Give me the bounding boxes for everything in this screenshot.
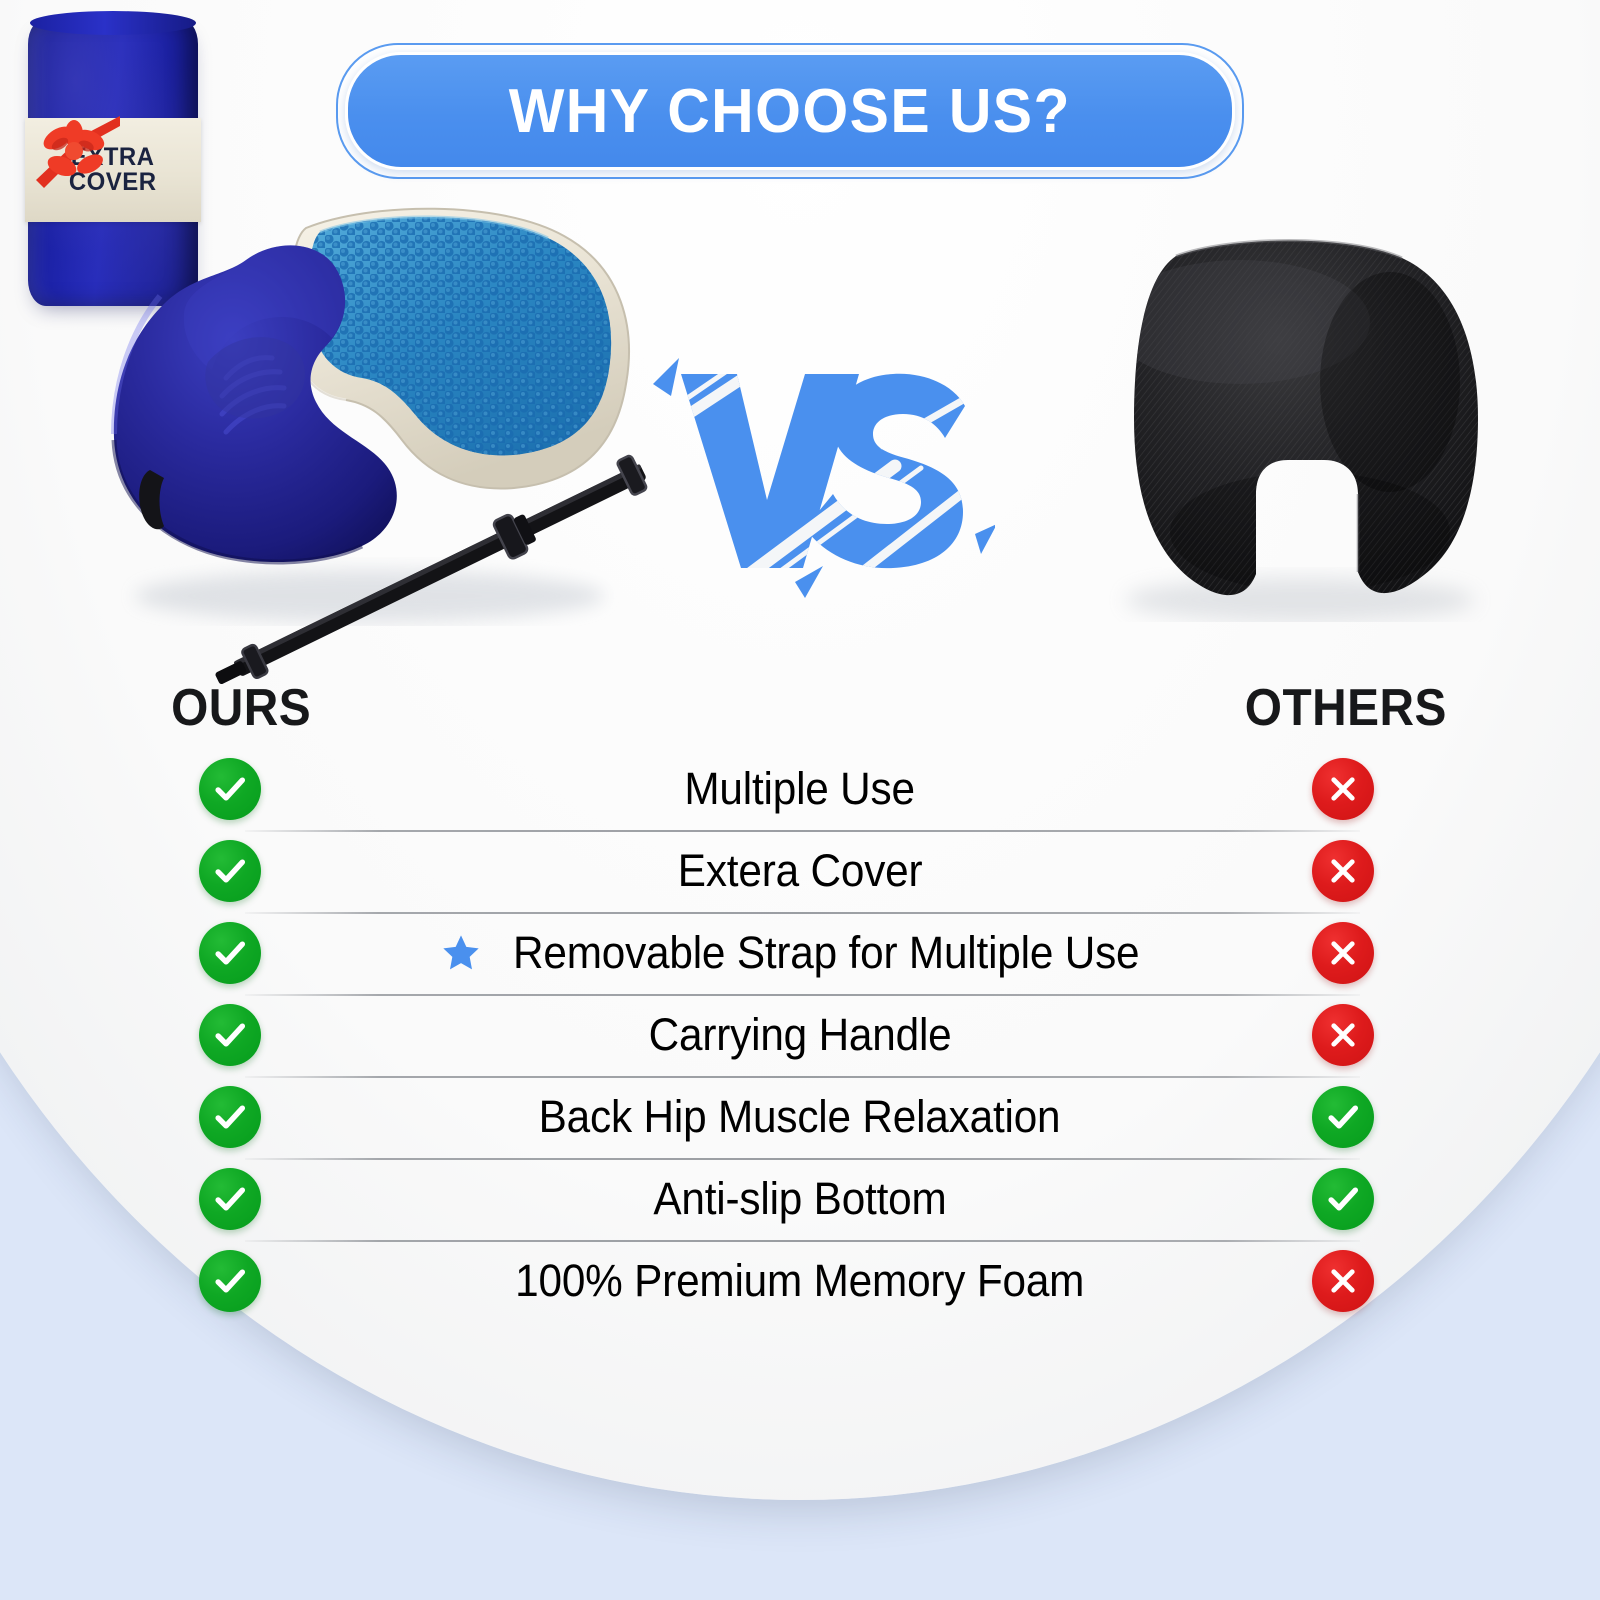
- check-icon-left: [199, 1250, 261, 1312]
- check-icon-left: [199, 1086, 261, 1148]
- comparison-table: Multiple UseExtera CoverRemovable Strap …: [0, 748, 1600, 1322]
- feature-label-wrap: Removable Strap for Multiple Use: [300, 927, 1300, 979]
- check-icon-right: [1312, 1168, 1374, 1230]
- feature-label-wrap: Multiple Use: [300, 763, 1300, 815]
- strap-image: [190, 450, 690, 690]
- feature-row: Removable Strap for Multiple Use: [0, 912, 1600, 994]
- feature-row: Carrying Handle: [0, 994, 1600, 1076]
- column-header-others: OTHERS: [1245, 678, 1447, 738]
- title-banner: WHY CHOOSE US?: [345, 52, 1235, 170]
- feature-row: 100% Premium Memory Foam: [0, 1240, 1600, 1322]
- check-icon-left: [199, 758, 261, 820]
- feature-row: Extera Cover: [0, 830, 1600, 912]
- cross-icon-right: [1312, 840, 1374, 902]
- feature-label-wrap: Back Hip Muscle Relaxation: [300, 1091, 1300, 1143]
- infographic-canvas: WHY CHOOSE US? EXTRA COVER: [0, 0, 1600, 1600]
- page-title: WHY CHOOSE US?: [509, 76, 1071, 147]
- feature-label-wrap: 100% Premium Memory Foam: [300, 1255, 1300, 1307]
- package-roll-top: [30, 11, 196, 35]
- check-icon-left: [199, 1004, 261, 1066]
- check-icon-left: [199, 922, 261, 984]
- feature-row: Anti-slip Bottom: [0, 1158, 1600, 1240]
- cross-icon-right: [1312, 1250, 1374, 1312]
- feature-row: Multiple Use: [0, 748, 1600, 830]
- feature-label: 100% Premium Memory Foam: [515, 1255, 1084, 1307]
- feature-label: Removable Strap for Multiple Use: [513, 927, 1139, 979]
- column-header-ours: OURS: [171, 678, 311, 738]
- others-product-image: [1080, 232, 1500, 622]
- feature-label-wrap: Extera Cover: [300, 845, 1300, 897]
- feature-label-wrap: Carrying Handle: [300, 1009, 1300, 1061]
- cross-icon-right: [1312, 922, 1374, 984]
- feature-label: Multiple Use: [685, 763, 915, 815]
- cross-icon-right: [1312, 1004, 1374, 1066]
- feature-label: Back Hip Muscle Relaxation: [539, 1091, 1061, 1143]
- vs-logo: [645, 338, 995, 600]
- star-icon: [441, 933, 481, 973]
- feature-label: Carrying Handle: [649, 1009, 952, 1061]
- feature-row: Back Hip Muscle Relaxation: [0, 1076, 1600, 1158]
- feature-label-wrap: Anti-slip Bottom: [300, 1173, 1300, 1225]
- feature-label: Extera Cover: [678, 845, 923, 897]
- title-pill: WHY CHOOSE US?: [345, 52, 1235, 170]
- gift-bow-icon: [34, 114, 120, 188]
- check-icon-left: [199, 1168, 261, 1230]
- cross-icon-right: [1312, 758, 1374, 820]
- check-icon-left: [199, 840, 261, 902]
- check-icon-right: [1312, 1086, 1374, 1148]
- feature-label: Anti-slip Bottom: [653, 1173, 946, 1225]
